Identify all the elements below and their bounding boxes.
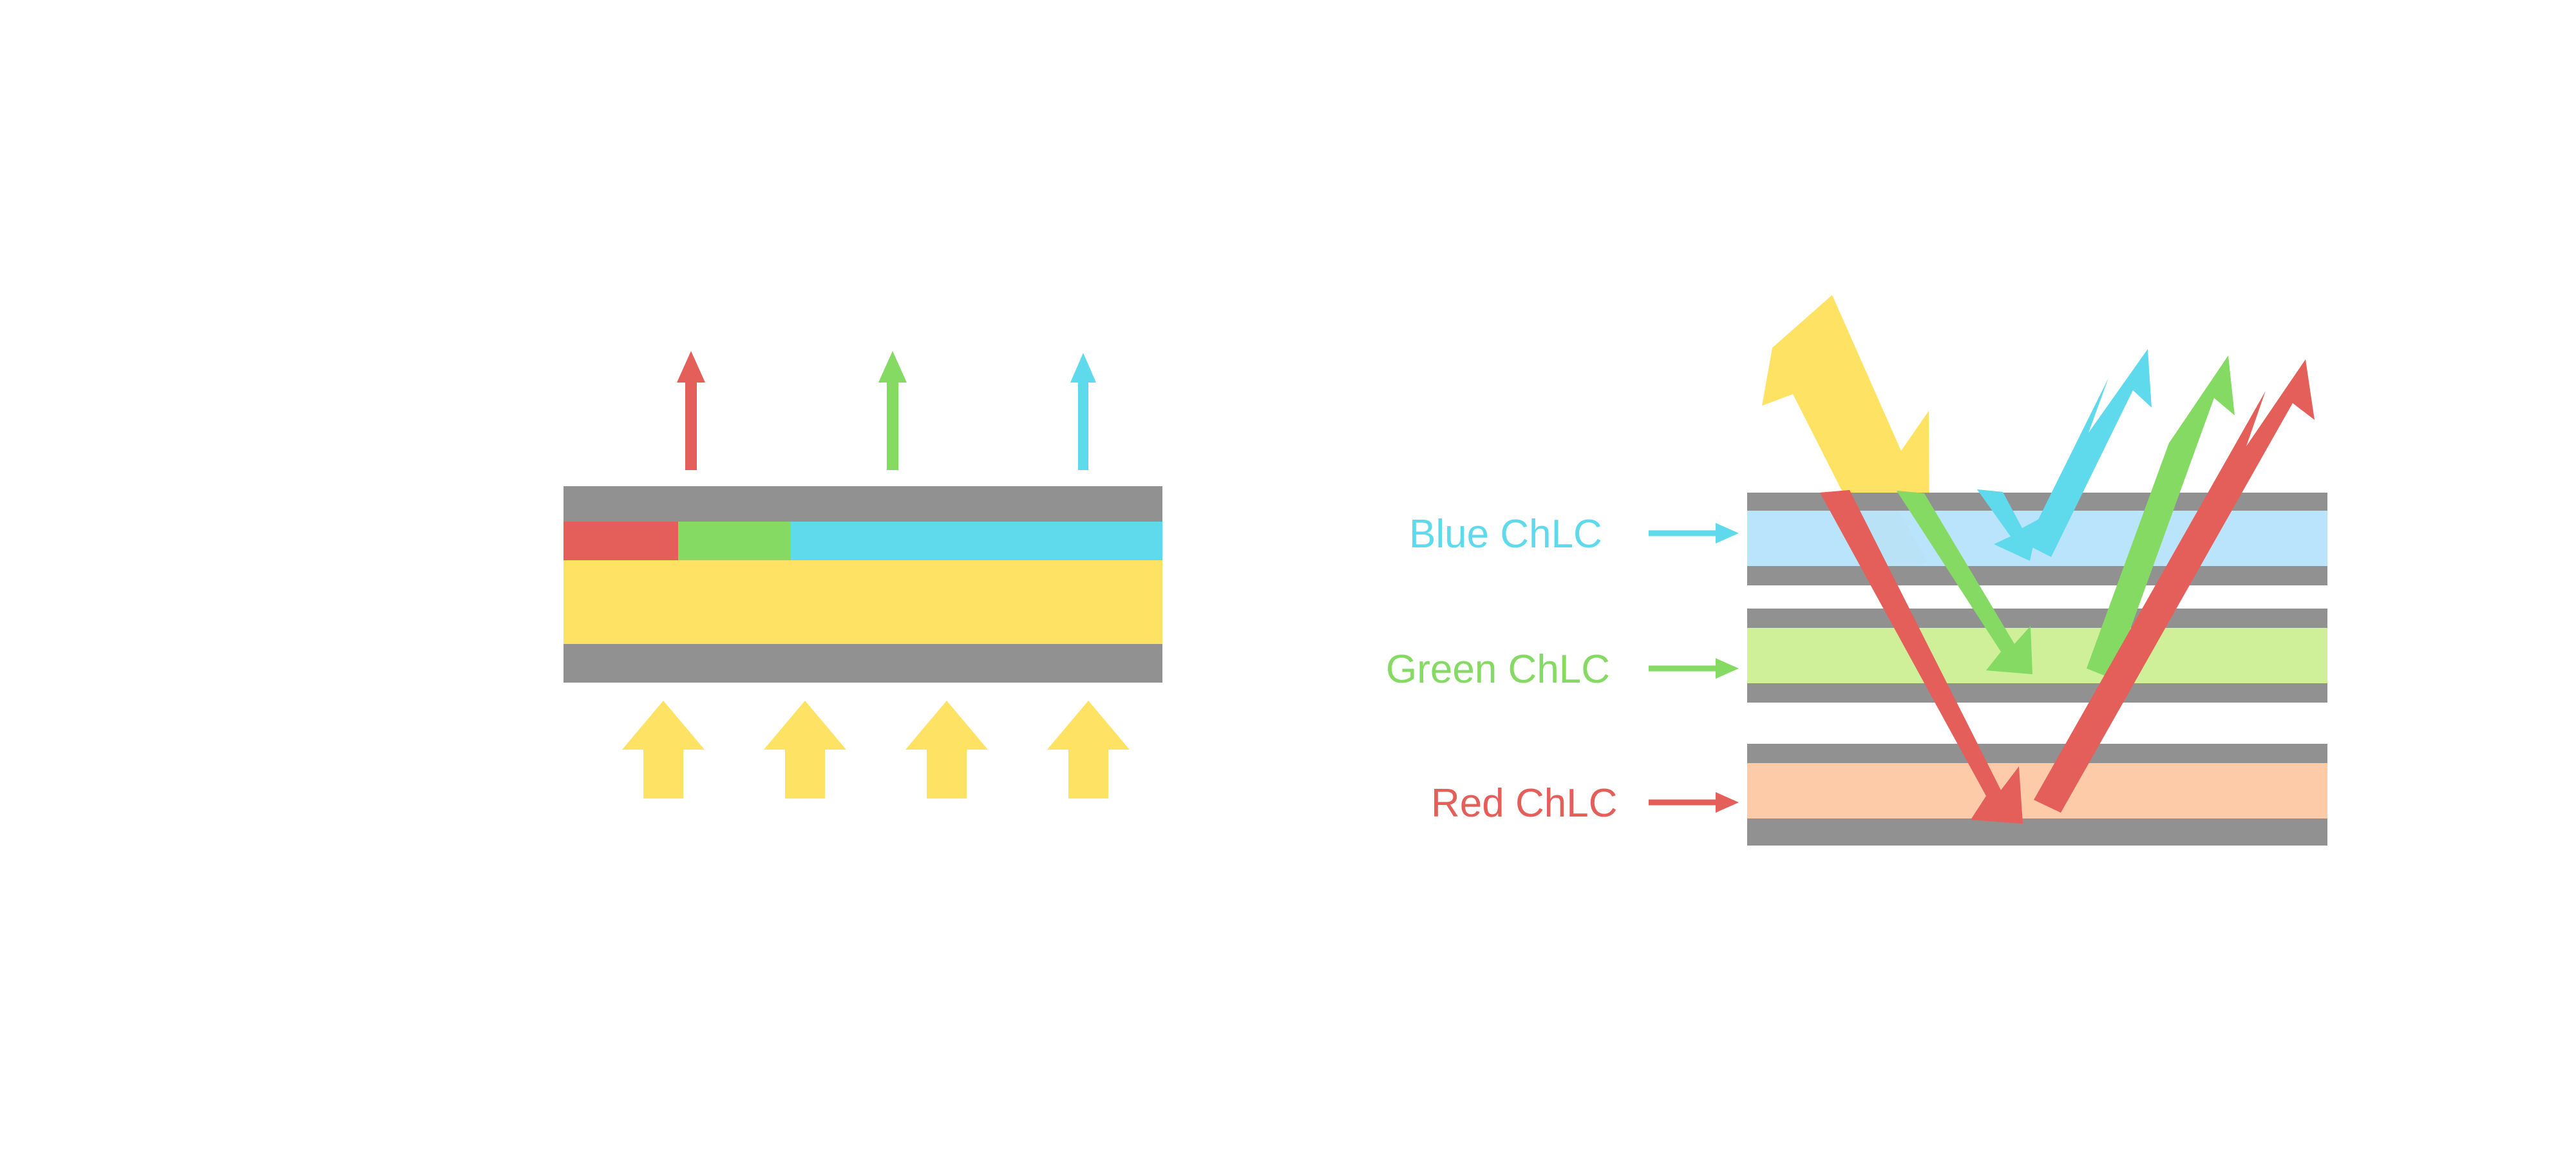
red-chlc-layer [1747,763,2327,818]
green-chlc-layer [1747,628,2327,683]
emissive-layer-stack [563,486,1162,683]
blue-subpixel [791,522,1162,560]
diagram-canvas: Blue ChLC Green ChLC Red ChLC [0,0,2576,1154]
blue-bottom-electrode [1747,566,2327,585]
red-bottom-electrode [1747,818,2327,846]
green-bottom-electrode [1747,683,2327,703]
red-top-electrode [1747,744,2327,763]
red-subpixel [563,522,678,560]
blue-chlc-label: Blue ChLC [1409,512,1602,556]
green-chlc-cell [1747,609,2327,703]
top-electrode-layer [563,486,1162,522]
bottom-electrode-layer [563,644,1162,683]
green-subpixel [678,522,791,560]
green-top-electrode [1747,609,2327,628]
green-chlc-label: Green ChLC [1386,647,1610,692]
red-chlc-label: Red ChLC [1431,781,1617,826]
backlight-layer [563,560,1162,644]
diagram-svg: Blue ChLC Green ChLC Red ChLC [0,0,2576,1154]
